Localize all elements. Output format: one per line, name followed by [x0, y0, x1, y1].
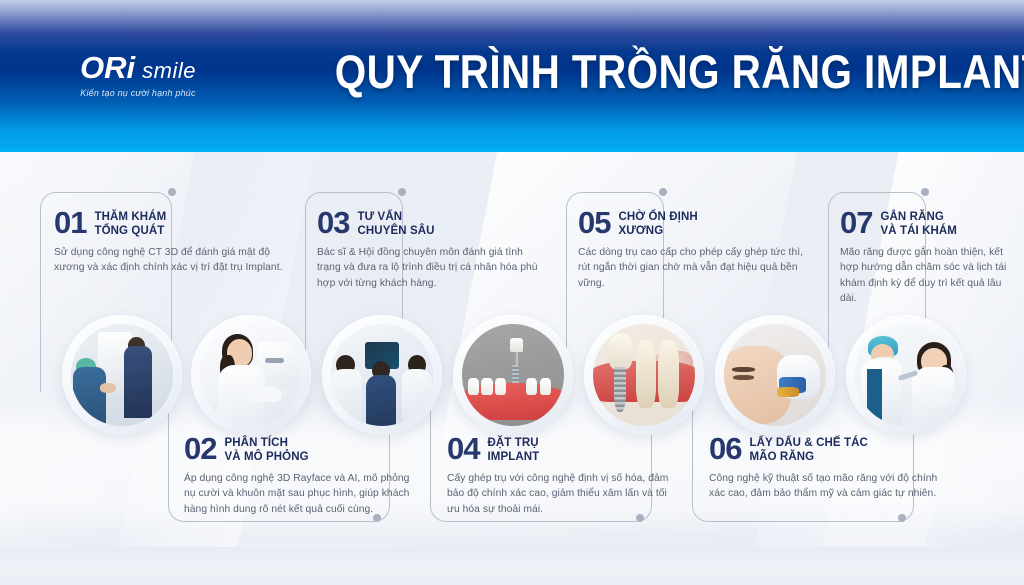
step-card-02: 02 PHÂN TÍCH VÀ MÔ PHỎNG Áp dụng công ng…	[184, 434, 416, 517]
step-title-line2-01: TỔNG QUÁT	[94, 224, 166, 238]
step-number-06: 06	[709, 434, 741, 463]
step-header-06: 06 LẤY DẤU & CHẾ TÁC MÃO RĂNG	[709, 434, 955, 464]
step-header-04: 04 ĐẶT TRỤ IMPLANT	[447, 434, 679, 464]
step-photo-06	[715, 315, 835, 435]
photo-frame-07	[855, 324, 957, 426]
step-card-03: 03 TƯ VẤN CHUYÊN SÂU Bác sĩ & Hội đồng c…	[317, 208, 549, 291]
rail-dot-03	[398, 188, 406, 196]
step-title-07: GẮN RĂNG VÀ TÁI KHÁM	[880, 208, 957, 238]
step-header-05: 05 CHỜ ỔN ĐỊNH XƯƠNG	[578, 208, 810, 238]
step-title-line1-05: CHỜ ỔN ĐỊNH	[618, 210, 697, 224]
rail-dot-01	[168, 188, 176, 196]
dental-impression-image	[724, 324, 826, 426]
step-photo-01	[62, 315, 182, 435]
step-title-line2-07: VÀ TÁI KHÁM	[880, 224, 957, 238]
step-card-05: 05 CHỜ ỔN ĐỊNH XƯƠNG Các dòng trụ cao cấ…	[578, 208, 810, 291]
step-title-line1-04: ĐẶT TRỤ	[487, 436, 539, 450]
step-desc-03: Bác sĩ & Hội đồng chuyên môn đánh giá tì…	[317, 245, 549, 291]
photo-frame-05	[593, 324, 695, 426]
step-number-02: 02	[184, 434, 216, 463]
step-desc-05: Các dòng trụ cao cấp cho phép cấy ghép t…	[578, 245, 810, 291]
rail-dot-07	[921, 188, 929, 196]
step-title-03: TƯ VẤN CHUYÊN SÂU	[357, 208, 434, 238]
poster-header: ORi smile Kiến tạo nụ cười hạnh phúc QUY…	[0, 0, 1024, 152]
logo-wordmark: ORi smile	[58, 52, 218, 83]
logo-ori-text: ORi	[80, 52, 135, 83]
implant-bone-closeup-image	[593, 324, 695, 426]
step-number-04: 04	[447, 434, 479, 463]
step-desc-07: Mão răng được gắn hoàn thiện, kết hợp hư…	[840, 245, 1016, 306]
step-title-line2-04: IMPLANT	[487, 450, 539, 464]
step-card-04: 04 ĐẶT TRỤ IMPLANT Cấy ghép trụ với công…	[447, 434, 679, 517]
step-desc-04: Cấy ghép trụ với công nghệ định vị số hó…	[447, 471, 679, 517]
step-number-07: 07	[840, 208, 872, 237]
step-title-line1-03: TƯ VẤN	[357, 210, 434, 224]
step-title-line2-02: VÀ MÔ PHỎNG	[224, 450, 308, 464]
rail-dot-05	[659, 188, 667, 196]
step-desc-06: Công nghệ kỹ thuật số tạo mão răng với đ…	[709, 471, 955, 501]
step-photo-02	[191, 315, 311, 435]
step-header-02: 02 PHÂN TÍCH VÀ MÔ PHỎNG	[184, 434, 416, 464]
photo-frame-06	[724, 324, 826, 426]
ct-scan-room-image	[71, 324, 173, 426]
step-title-line1-01: THĂM KHÁM	[94, 210, 166, 224]
step-title-line1-06: LẤY DẤU & CHẾ TÁC	[749, 436, 867, 450]
step-number-03: 03	[317, 208, 349, 237]
bg-floor	[0, 547, 1024, 585]
step-number-01: 01	[54, 208, 86, 237]
step-desc-02: Áp dụng công nghệ 3D Rayface và AI, mô p…	[184, 471, 416, 517]
rail-dot-06	[898, 514, 906, 522]
step-title-line1-07: GẮN RĂNG	[880, 210, 957, 224]
step-title-line2-06: MÃO RĂNG	[749, 450, 867, 464]
step-desc-01: Sử dụng công nghệ CT 3D để đánh giá mật …	[54, 245, 286, 275]
step-header-03: 03 TƯ VẤN CHUYÊN SÂU	[317, 208, 549, 238]
step-photo-03	[322, 315, 442, 435]
photo-frame-04	[462, 324, 564, 426]
step-number-05: 05	[578, 208, 610, 237]
step-card-01: 01 THĂM KHÁM TỔNG QUÁT Sử dụng công nghệ…	[54, 208, 286, 276]
step-title-01: THĂM KHÁM TỔNG QUÁT	[94, 208, 166, 238]
step-photo-05	[584, 315, 704, 435]
logo-smile-text: smile	[142, 60, 196, 82]
step-card-07: 07 GẮN RĂNG VÀ TÁI KHÁM Mão răng được gắ…	[840, 208, 1016, 306]
dentist-with-patient-image	[855, 324, 957, 426]
infographic-poster: ORi smile Kiến tạo nụ cười hạnh phúc QUY…	[0, 0, 1024, 585]
step-title-04: ĐẶT TRỤ IMPLANT	[487, 434, 539, 464]
photo-frame-01	[71, 324, 173, 426]
step-photo-04	[453, 315, 573, 435]
photo-frame-03	[331, 324, 433, 426]
brand-tagline: Kiến tạo nụ cười hạnh phúc	[58, 88, 218, 98]
step-photo-07	[846, 315, 966, 435]
step-title-05: CHỜ ỔN ĐỊNH XƯƠNG	[618, 208, 697, 238]
implant-model-image	[462, 324, 564, 426]
page-title: QUY TRÌNH TRỒNG RĂNG IMPLANT	[335, 47, 885, 96]
step-header-07: 07 GẮN RĂNG VÀ TÁI KHÁM	[840, 208, 1016, 238]
photo-frame-02	[200, 324, 302, 426]
brand-logo: ORi smile Kiến tạo nụ cười hạnh phúc	[58, 52, 218, 98]
step-header-01: 01 THĂM KHÁM TỔNG QUÁT	[54, 208, 286, 238]
face-scanner-image	[200, 324, 302, 426]
step-title-06: LẤY DẤU & CHẾ TÁC MÃO RĂNG	[749, 434, 867, 464]
step-card-06: 06 LẤY DẤU & CHẾ TÁC MÃO RĂNG Công nghệ …	[709, 434, 955, 502]
step-title-line2-03: CHUYÊN SÂU	[357, 224, 434, 238]
step-title-02: PHÂN TÍCH VÀ MÔ PHỎNG	[224, 434, 308, 464]
step-title-line1-02: PHÂN TÍCH	[224, 436, 308, 450]
consultation-meeting-image	[331, 324, 433, 426]
step-title-line2-05: XƯƠNG	[618, 224, 697, 238]
